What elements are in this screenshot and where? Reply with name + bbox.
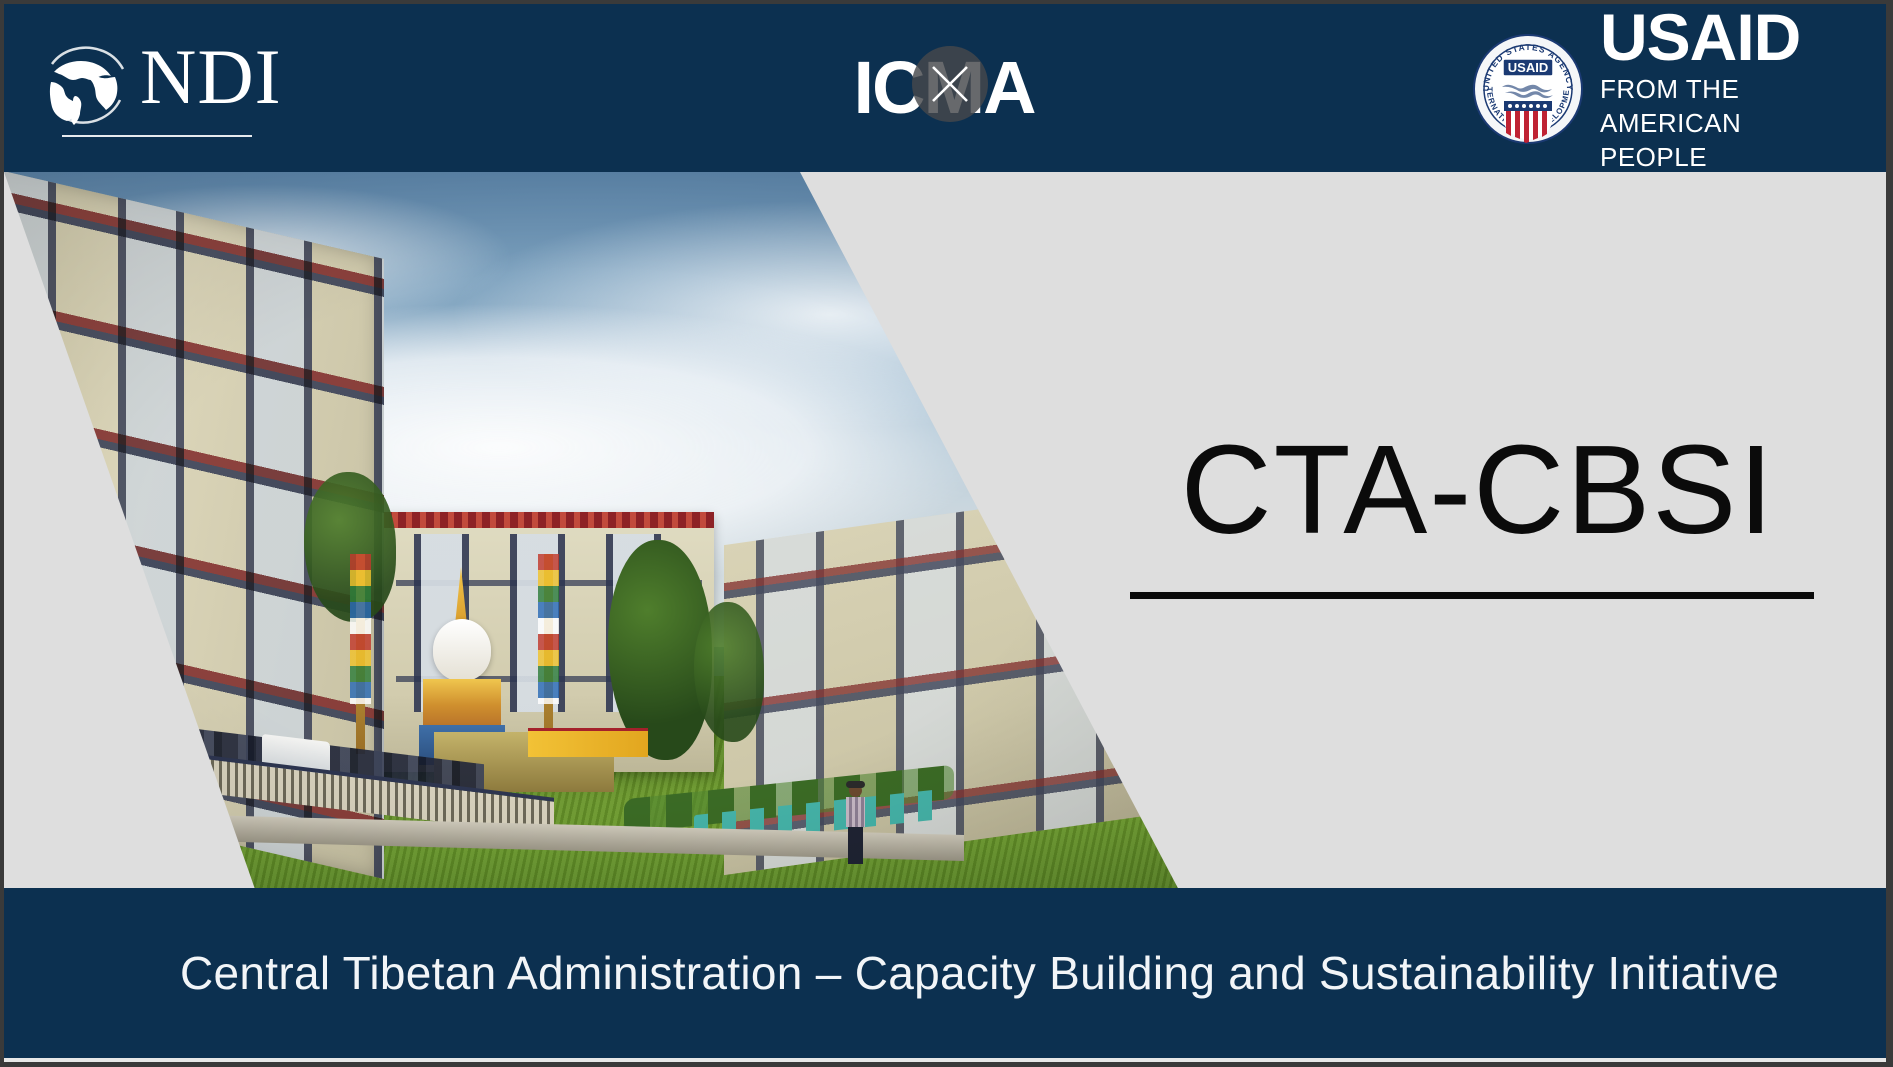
svg-text:USAID: USAID (1508, 60, 1548, 75)
footer-subtitle: Central Tibetan Administration – Capacit… (180, 946, 1779, 1000)
photo-vignette (4, 172, 1184, 892)
ndi-wordmark: NDI (140, 34, 282, 120)
footer-band: Central Tibetan Administration – Capacit… (4, 888, 1886, 1058)
presentation-slide: NDI ICMA (0, 0, 1893, 1067)
courtyard-photograph (4, 172, 1184, 892)
title-underline (1130, 592, 1814, 599)
usaid-wordmark: USAID (1600, 4, 1852, 70)
usaid-tagline: FROM THE AMERICAN PEOPLE (1600, 72, 1852, 174)
usaid-text-block: USAID FROM THE AMERICAN PEOPLE (1600, 4, 1852, 174)
close-x-icon (926, 60, 974, 108)
usaid-seal-icon: UNITED STATES AGENCY INTERNATIONAL DEVEL… (1472, 33, 1584, 145)
globe-icon (32, 34, 136, 138)
bottom-hairline (4, 1058, 1886, 1062)
page-title: CTA-CBSI (1128, 424, 1828, 556)
usaid-logo[interactable]: UNITED STATES AGENCY INTERNATIONAL DEVEL… (1472, 30, 1852, 148)
title-block: CTA-CBSI (1128, 424, 1828, 599)
slide-canvas: NDI ICMA (4, 4, 1886, 1062)
photo-content (4, 172, 1184, 892)
ndi-logo[interactable]: NDI (32, 34, 257, 144)
icma-logo[interactable]: ICMA (824, 46, 1064, 130)
header-band: NDI ICMA (4, 4, 1886, 172)
ndi-underline (62, 135, 252, 137)
